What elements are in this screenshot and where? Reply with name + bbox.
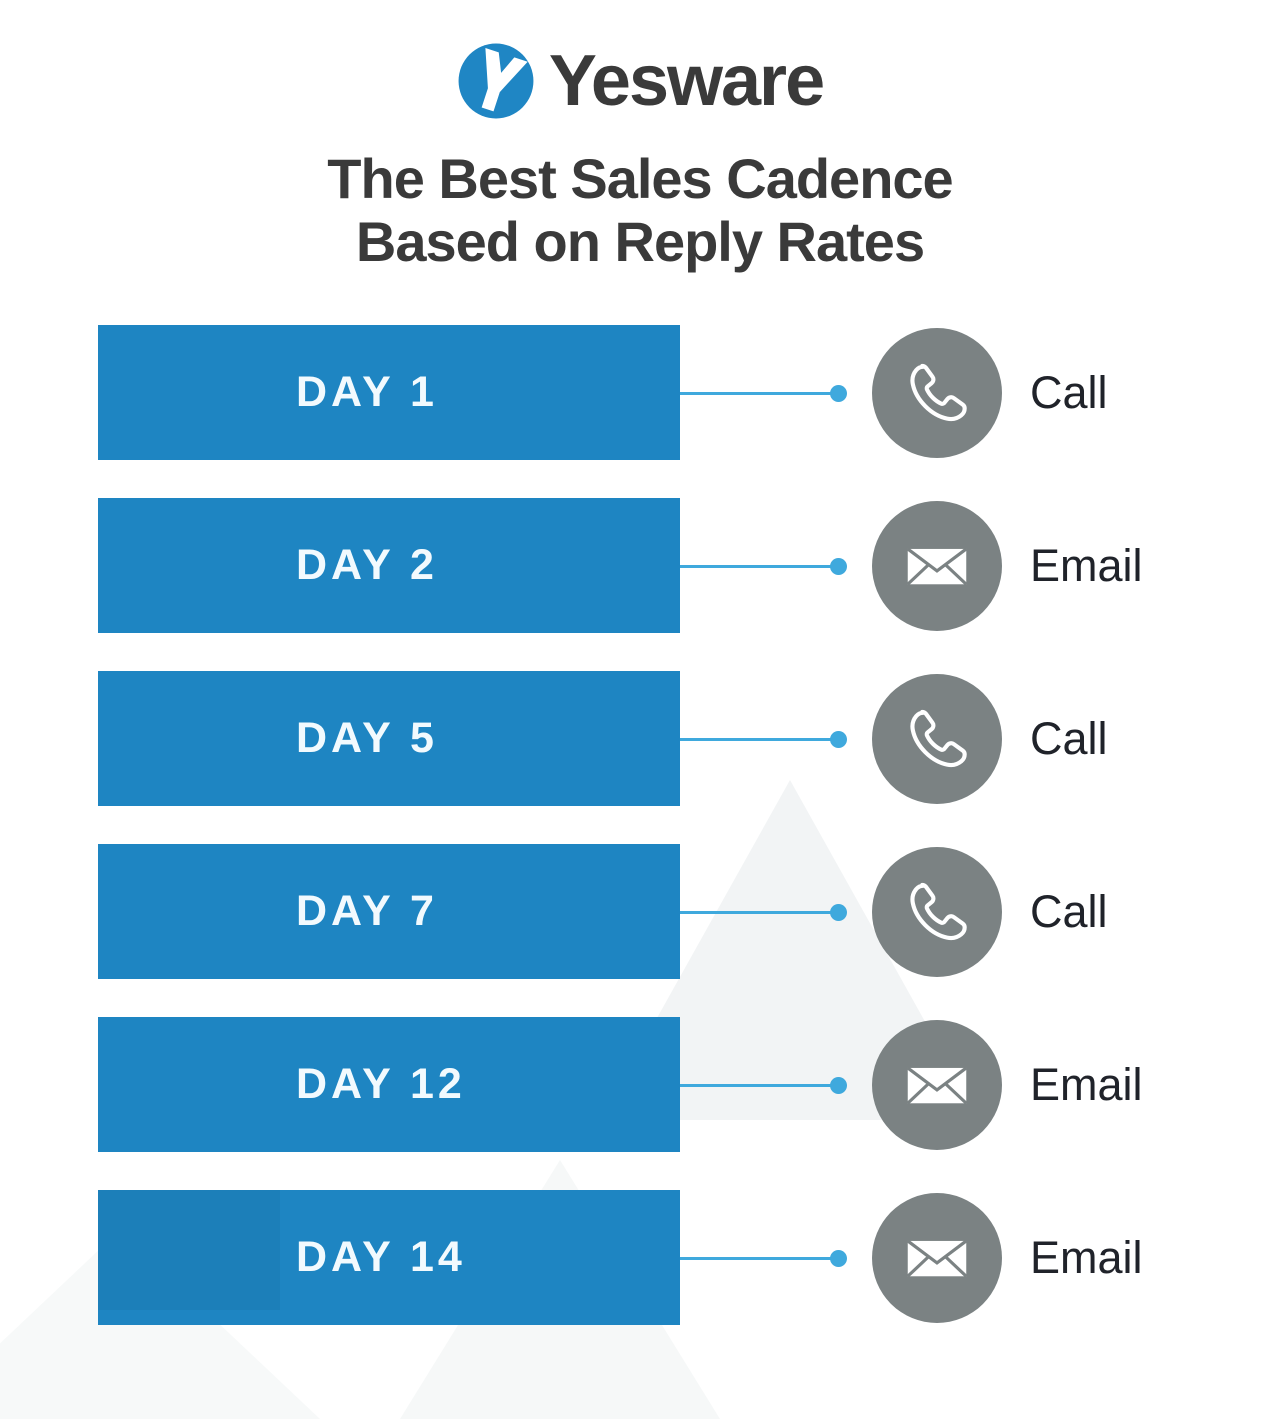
- channel-label: Email: [1030, 1017, 1143, 1152]
- day-label: DAY 1: [296, 368, 438, 417]
- phone-icon: [898, 873, 976, 951]
- channel-label: Call: [1030, 325, 1108, 460]
- channel-label: Call: [1030, 844, 1108, 979]
- phone-icon: [898, 354, 976, 432]
- connector-dot: [830, 558, 847, 575]
- connector-dot: [830, 904, 847, 921]
- day-bar: DAY 1: [98, 325, 680, 460]
- page-title-line-2: Based on Reply Rates: [0, 211, 1280, 274]
- channel-icon-badge: [872, 328, 1002, 458]
- yesware-y-logo-icon: [457, 42, 535, 120]
- channel-icon-badge: [872, 501, 1002, 631]
- day-bar: DAY 14: [98, 1190, 680, 1325]
- day-bar: DAY 2: [98, 498, 680, 633]
- day-label: DAY 5: [296, 714, 438, 763]
- cadence-row: DAY 1 Call: [0, 325, 1280, 460]
- connector-line: [680, 1257, 840, 1260]
- cadence-row: DAY 5 Call: [0, 671, 1280, 806]
- connector-dot: [830, 1077, 847, 1094]
- infographic-page: Yesware The Best Sales Cadence Based on …: [0, 0, 1280, 1325]
- channel-label: Email: [1030, 1190, 1143, 1325]
- cadence-row: DAY 12 Email: [0, 1017, 1280, 1152]
- cadence-list: DAY 1 Call DAY 2: [0, 325, 1280, 1325]
- day-label: DAY 12: [296, 1060, 466, 1109]
- channel-icon-badge: [872, 1193, 1002, 1323]
- cadence-row: DAY 2 Email: [0, 498, 1280, 633]
- day-bar: DAY 7: [98, 844, 680, 979]
- connector-line: [680, 392, 840, 395]
- brand-header: Yesware: [0, 0, 1280, 120]
- connector-line: [680, 565, 840, 568]
- cadence-row: DAY 7 Call: [0, 844, 1280, 979]
- channel-icon-badge: [872, 674, 1002, 804]
- connector-dot: [830, 385, 847, 402]
- connector-line: [680, 911, 840, 914]
- connector-dot: [830, 1250, 847, 1267]
- cadence-row: DAY 14 Email: [0, 1190, 1280, 1325]
- channel-icon-badge: [872, 1020, 1002, 1150]
- day-label: DAY 7: [296, 887, 438, 936]
- channel-label: Call: [1030, 671, 1108, 806]
- page-title: The Best Sales Cadence Based on Reply Ra…: [0, 148, 1280, 273]
- envelope-icon: [898, 1219, 976, 1297]
- brand-wordmark: Yesware: [549, 45, 823, 117]
- channel-icon-badge: [872, 847, 1002, 977]
- day-bar: DAY 5: [98, 671, 680, 806]
- day-bar: DAY 12: [98, 1017, 680, 1152]
- envelope-icon: [898, 1046, 976, 1124]
- channel-label: Email: [1030, 498, 1143, 633]
- day-label: DAY 2: [296, 541, 438, 590]
- connector-line: [680, 738, 840, 741]
- connector-line: [680, 1084, 840, 1087]
- phone-icon: [898, 700, 976, 778]
- connector-dot: [830, 731, 847, 748]
- envelope-icon: [898, 527, 976, 605]
- page-title-line-1: The Best Sales Cadence: [0, 148, 1280, 211]
- day-label: DAY 14: [296, 1233, 466, 1282]
